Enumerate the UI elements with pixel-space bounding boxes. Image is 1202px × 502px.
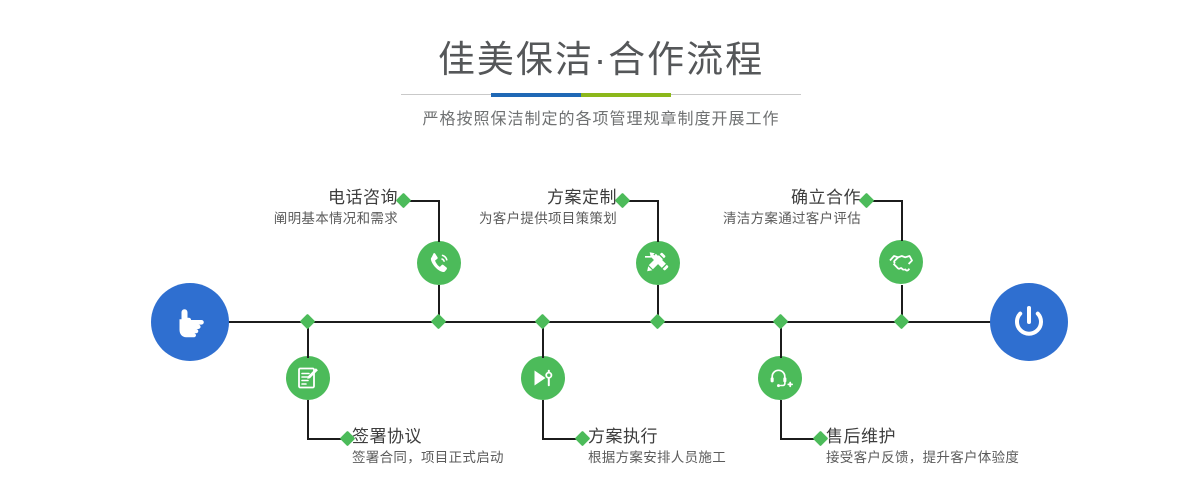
power-icon <box>1007 300 1051 344</box>
label-plan-execute: 方案执行 根据方案安排人员施工 <box>588 426 848 468</box>
label-desc: 阐明基本情况和需求 <box>150 209 398 229</box>
title-divider <box>401 93 801 97</box>
connector-stem-establish-cooperation <box>901 200 903 241</box>
label-desc: 接受客户反馈，提升客户体验度 <box>826 448 1106 468</box>
label-title: 确立合作 <box>613 187 861 209</box>
label-after-sales: 售后维护 接受客户反馈，提升客户体验度 <box>826 426 1106 468</box>
label-desc: 根据方案安排人员施工 <box>588 448 848 468</box>
page-subtitle: 严格按照保洁制定的各项管理规章制度开展工作 <box>0 105 1202 129</box>
node-plan-execute[interactable] <box>521 356 565 400</box>
label-desc: 清洁方案通过客户评估 <box>613 209 861 229</box>
node-plan-customize[interactable] <box>636 241 680 285</box>
node-after-sales[interactable] <box>758 356 802 400</box>
divider-segment-blue <box>491 93 581 97</box>
document-pencil-icon <box>295 365 321 391</box>
axis-diamond-plan-execute <box>535 314 551 330</box>
page-title: 佳美保洁·合作流程 <box>0 38 1202 82</box>
support-agent-icon <box>767 365 794 392</box>
axis-diamond-after-sales <box>773 314 789 330</box>
label-title: 签署协议 <box>352 426 612 448</box>
axis-diamond-establish-cooperation <box>894 314 910 330</box>
label-title: 方案执行 <box>588 426 848 448</box>
axis-diamond-phone-consult <box>431 314 447 330</box>
node-sign-agreement[interactable] <box>286 356 330 400</box>
pencil-ruler-icon <box>645 250 671 276</box>
node-establish-cooperation[interactable] <box>879 240 923 284</box>
connector-diamond-establish-cooperation <box>859 193 875 209</box>
label-title: 电话咨询 <box>150 187 398 209</box>
pointing-hand-icon <box>169 301 211 343</box>
connector-stem-after-sales <box>780 400 782 439</box>
cooperation-process-infographic: 佳美保洁·合作流程 严格按照保洁制定的各项管理规章制度开展工作 <box>0 0 1202 502</box>
phone-call-icon <box>425 249 453 277</box>
timeline-end-endpoint <box>990 283 1068 361</box>
divider-segment-green <box>581 93 671 97</box>
label-plan-customize: 方案定制 为客户提供项目策策划 <box>372 187 617 229</box>
timeline-start-endpoint <box>151 283 229 361</box>
connector-stem-sign-agreement <box>307 400 309 439</box>
axis-diamond-sign-agreement <box>300 314 316 330</box>
node-phone-consult[interactable] <box>417 241 461 285</box>
axis-diamond-plan-customize <box>650 314 666 330</box>
connector-stem-plan-execute <box>542 400 544 439</box>
label-phone-consult: 电话咨询 阐明基本情况和需求 <box>150 187 398 229</box>
label-sign-agreement: 签署协议 签署合同，项目正式启动 <box>352 426 612 468</box>
play-settings-icon <box>530 365 556 391</box>
label-title: 售后维护 <box>826 426 1106 448</box>
label-establish-cooperation: 确立合作 清洁方案通过客户评估 <box>613 187 861 229</box>
label-title: 方案定制 <box>372 187 617 209</box>
label-desc: 签署合同，项目正式启动 <box>352 448 612 468</box>
timeline-axis <box>158 321 1044 323</box>
handshake-icon <box>887 248 915 276</box>
label-desc: 为客户提供项目策策划 <box>372 209 617 229</box>
